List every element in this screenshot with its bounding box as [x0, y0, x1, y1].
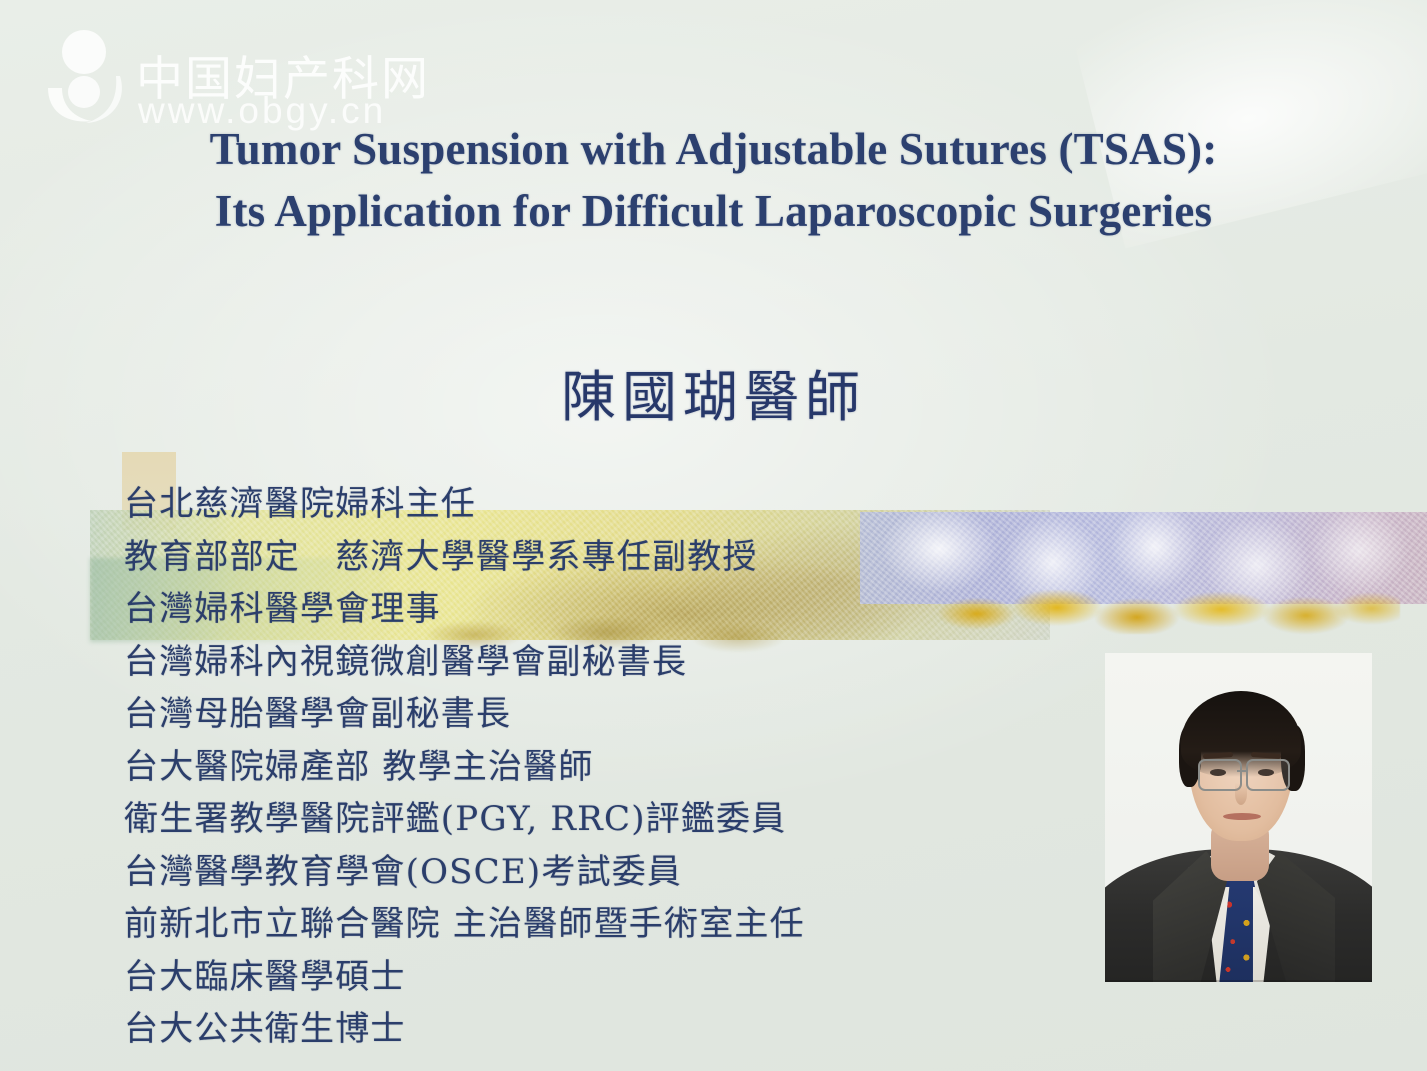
credential-line: 台大醫院婦產部 教學主治醫師	[124, 741, 1124, 794]
credential-line: 台灣婦科內視鏡微創醫學會副秘書長	[124, 636, 1124, 689]
title-line-2: Its Application for Difficult Laparoscop…	[0, 180, 1427, 242]
credential-line: 教育部部定 慈濟大學醫學系專任副教授	[124, 531, 1124, 584]
credential-line: 台北慈濟醫院婦科主任	[124, 478, 1124, 531]
credentials-list: 台北慈濟醫院婦科主任 教育部部定 慈濟大學醫學系專任副教授 台灣婦科醫學會理事 …	[124, 478, 1124, 1056]
photo-nose	[1235, 783, 1247, 805]
photo-glasses-bridge	[1237, 770, 1248, 772]
credential-line: 衛生署教學醫院評鑑(PGY, RRC)評鑑委員	[124, 793, 1124, 846]
watermark: 中国妇产科网 www.obgy.cn	[38, 20, 418, 125]
credential-line: 台灣醫學教育學會(OSCE)考試委員	[124, 846, 1124, 899]
presenter-name: 陳國瑚醫師	[0, 352, 1427, 432]
credential-line: 台灣婦科醫學會理事	[124, 583, 1124, 636]
watermark-site-name: 中国妇产科网	[136, 40, 430, 109]
presenter-photo	[1105, 653, 1372, 982]
credential-line: 前新北市立聯合醫院 主治醫師暨手術室主任	[124, 898, 1124, 951]
credential-line: 台大臨床醫學碩士	[124, 951, 1124, 1004]
slide-title: Tumor Suspension with Adjustable Sutures…	[0, 118, 1427, 242]
title-line-1: Tumor Suspension with Adjustable Sutures…	[0, 118, 1427, 180]
photo-edge	[1105, 980, 1372, 982]
credential-line: 台大公共衛生博士	[124, 1003, 1124, 1056]
photo-mouth	[1223, 813, 1261, 820]
credential-line: 台灣母胎醫學會副秘書長	[124, 688, 1124, 741]
presentation-slide: 中国妇产科网 www.obgy.cn Tumor Suspension with…	[0, 0, 1427, 1071]
photo-glasses-right-lens	[1246, 759, 1290, 791]
mother-and-child-logo-icon	[38, 26, 130, 124]
